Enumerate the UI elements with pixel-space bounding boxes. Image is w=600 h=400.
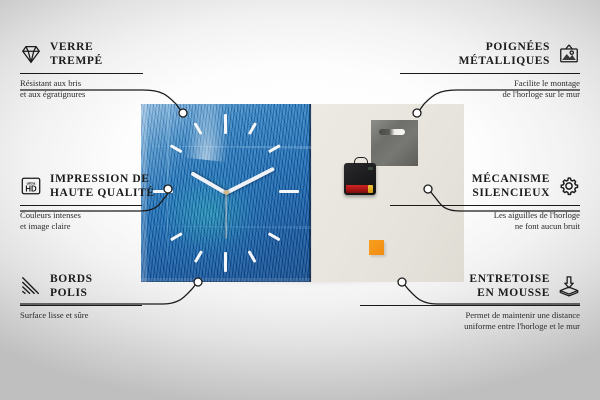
callout-title-line2: TREMPÉ [50,54,103,68]
callout-title-line2: POLIS [50,286,93,300]
hanger-slot [379,129,405,135]
callout-rule [20,305,142,306]
mechanism-hook [354,157,368,166]
callout-sub-line2: uniforme entre l'horloge et le mur [340,321,580,332]
callout-header: VERRE TREMPÉ [20,40,220,68]
callout-header: BORDS POLIS [20,272,220,300]
callout-sub-line1: Facilite le montage [380,78,580,89]
callout-entretoise-en-mousse[interactable]: ENTRETOISE EN MOUSSE Permet de maintenir… [340,272,580,332]
callout-rule [20,205,142,206]
callout-sub-line2: de l'horloge sur le mur [380,89,580,100]
callout-rule [400,73,580,74]
ultra-hd-icon: ultra HD [20,175,42,197]
callout-sub-line2: ne font aucun bruit [370,221,580,232]
callout-rule [360,305,580,306]
callout-title-line1: MÉCANISME [472,172,550,186]
callout-header: POIGNÉES MÉTALLIQUES [380,40,580,68]
metal-hanger-plate [371,120,418,166]
callout-title-line2: EN MOUSSE [469,286,550,300]
callout-title-line2: HAUTE QUALITÉ [50,186,155,200]
callout-header: ultra HD IMPRESSION DE HAUTE QUALITÉ [20,172,250,200]
callout-rule [20,73,143,74]
callout-verre-trempe[interactable]: VERRE TREMPÉ Résistant aux bris et aux é… [20,40,220,100]
callout-title-line2: SILENCIEUX [472,186,550,200]
foam-spacer [369,240,384,255]
callout-header: MÉCANISME SILENCIEUX [370,172,580,200]
gear-icon [558,175,580,197]
callout-title-line1: BORDS [50,272,93,286]
callout-poignees-metalliques[interactable]: POIGNÉES MÉTALLIQUES Facilite le montage… [380,40,580,100]
callout-sub-line1: Surface lisse et sûre [20,310,220,321]
callout-sub-line2: et aux égratignures [20,89,220,100]
callout-impression-hd[interactable]: ultra HD IMPRESSION DE HAUTE QUALITÉ Cou… [20,172,250,232]
battery [346,185,370,193]
callout-sub-line1: Couleurs intenses [20,210,250,221]
callout-title-line1: VERRE [50,40,103,54]
infographic-canvas: VERRE TREMPÉ Résistant aux bris et aux é… [0,0,600,400]
callout-sub-line2: et image claire [20,221,250,232]
mechanism-label [368,167,373,170]
callout-title-line2: MÉTALLIQUES [459,54,550,68]
picture-frame-hanging-icon [558,43,580,65]
polished-edge-icon [20,275,42,297]
svg-text:HD: HD [25,185,37,194]
callout-rule [390,205,580,206]
callout-title-line1: ENTRETOISE [469,272,550,286]
callout-title-line1: POIGNÉES [459,40,550,54]
foam-spacer-arrow-icon [558,275,580,297]
callout-sub-line1: Les aiguilles de l'horloge [370,210,580,221]
callout-sub-line1: Permet de maintenir une distance [340,310,580,321]
callout-bords-polis[interactable]: BORDS POLIS Surface lisse et sûre [20,272,220,321]
glass-glare [183,104,234,162]
callout-mecanisme-silencieux[interactable]: MÉCANISME SILENCIEUX Les aiguilles de l'… [370,172,580,232]
callout-title-line1: IMPRESSION DE [50,172,155,186]
diamond-icon [20,43,42,65]
callout-header: ENTRETOISE EN MOUSSE [340,272,580,300]
callout-sub-line1: Résistant aux bris [20,78,220,89]
